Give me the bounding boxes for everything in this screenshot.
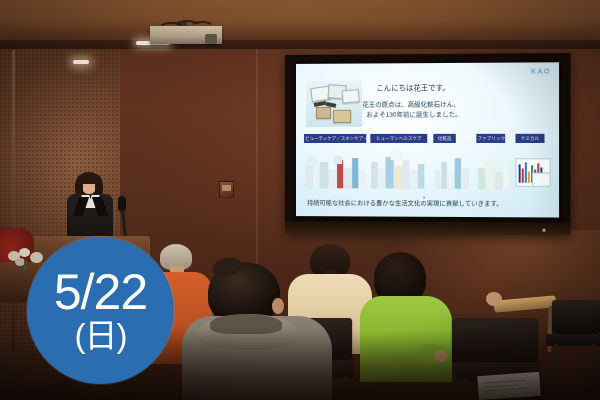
projection-screen: KAO こんにちは花王です。 花王の原点は、高級化粧石けん、 およそ130年前に… (285, 53, 571, 235)
screen-indicator-dot (542, 229, 545, 232)
projector-cables (156, 20, 216, 32)
projector-lens-icon (205, 34, 217, 44)
date-badge: 5/22 (日) (27, 237, 174, 384)
product-group-beauty-care (304, 146, 366, 192)
audience-ear (272, 298, 284, 314)
recessed-ceiling-light-icon (73, 60, 89, 64)
slide-category-label-row: ビューティケア／スキンケア・ヘアケア ヒューマンヘルスケア 化粧品 ファブリック… (302, 134, 553, 146)
slide-headline: こんにちは花王です。 (376, 83, 449, 93)
historic-soap-packaging-photo (306, 81, 362, 127)
slide-category-label: ビューティケア／スキンケア・ヘアケア (304, 134, 366, 143)
slide-category-label: ヒューマンヘルスケア (370, 134, 427, 143)
date-badge-day-of-week: (日) (75, 318, 127, 354)
presenter-at-podium (62, 172, 118, 242)
audience-hand-on-armrest (486, 292, 502, 306)
slide-product-lineup-band (302, 146, 553, 193)
slide-subtext-line-2: およそ130年前に誕生しました。 (366, 111, 461, 121)
presentation-slide: KAO こんにちは花王です。 花王の原点は、高級化粧石けん、 およそ130年前に… (296, 62, 559, 217)
product-group-human-health-care (370, 146, 427, 193)
product-group-fabric-home-care (476, 146, 511, 193)
kao-logo: KAO (531, 68, 551, 75)
slide-footer-text: 持続可能な社会における豊かな生活文化の実現に貢献していきます。 (307, 198, 548, 208)
slide-category-label: 化粧品 (433, 134, 455, 143)
slide-subtext-line-1: 花王の原点は、高級化粧石けん、 (362, 100, 460, 110)
wall-edge (12, 50, 15, 350)
wall-control-panel (219, 181, 234, 198)
chemical-product-box (532, 173, 551, 187)
ceiling-beam-shadow (0, 40, 600, 49)
projection-screen-lower-frame (285, 221, 571, 235)
slide-category-label: ファブリック＆ホームケア (476, 134, 505, 143)
event-photograph: KAO こんにちは花王です。 花王の原点は、高級化粧石けん、 およそ130年前に… (0, 0, 600, 400)
product-group-cosmetics (433, 146, 474, 193)
date-badge-date: 5/22 (54, 268, 147, 316)
microphone-neck (121, 209, 127, 239)
gooseneck-microphone (112, 196, 132, 240)
slide-category-label: ケミカル (516, 134, 545, 143)
ceiling-mounted-projector (150, 22, 222, 44)
product-group-chemicals (513, 146, 550, 193)
